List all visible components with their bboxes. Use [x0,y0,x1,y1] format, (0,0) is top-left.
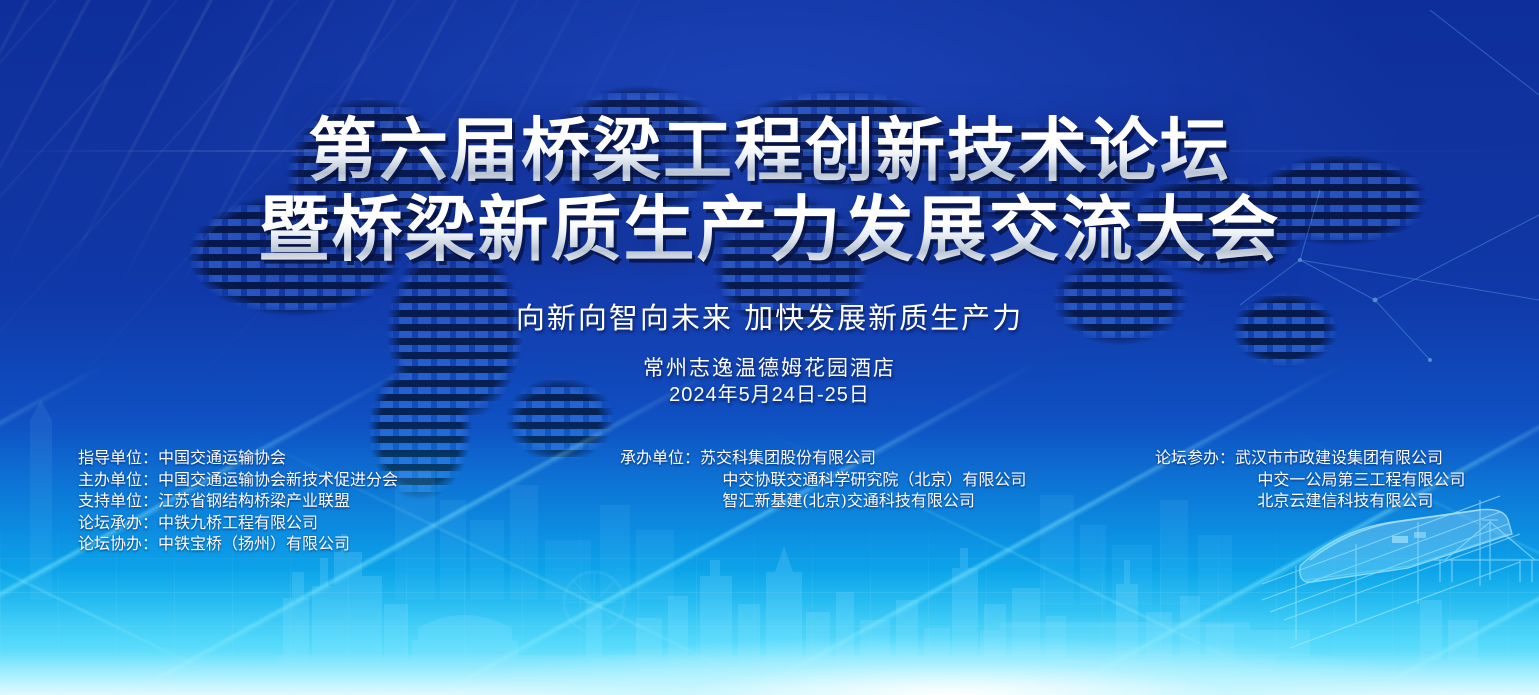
organizer-value: 北京云建信科技有限公司 [1257,491,1433,510]
organizer-value: 武汉市市政建设集团有限公司 [1235,448,1443,467]
organizer-row: 论坛协办：中铁宝桥（扬州）有限公司 [78,533,398,555]
organizer-value: 中交一公局第三工程有限公司 [1257,470,1465,489]
organizer-value: 苏交科集团股份有限公司 [700,448,876,467]
organizer-row: 中交一公局第三工程有限公司 [1155,469,1465,491]
organizer-label: 承办单位： [620,448,700,467]
organizer-value: 中铁宝桥（扬州）有限公司 [158,534,350,553]
organizer-row: 支持单位：江苏省钢结构桥梁产业联盟 [78,490,398,512]
organizer-row: 指导单位：中国交通运输协会 [78,447,398,469]
organizer-row: 论坛参办：武汉市市政建设集团有限公司 [1155,447,1465,469]
organizers-right-column: 论坛参办：武汉市市政建设集团有限公司 中交一公局第三工程有限公司 北京云建信科技… [1155,447,1465,512]
title-line-1: 第六届桥梁工程创新技术论坛 [0,112,1539,190]
dates-text: 2024年5月24日-25日 [0,378,1539,407]
title-line-2: 暨桥梁新质生产力发展交流大会 [0,190,1539,268]
organizer-row: 中交协联交通科学研究院（北京）有限公司 [620,469,1026,491]
conference-banner: 第六届桥梁工程创新技术论坛 暨桥梁新质生产力发展交流大会 向新向智向未来 加快发… [0,0,1539,695]
organizer-row: 承办单位：苏交科集团股份有限公司 [620,447,1026,469]
organizers-left-column: 指导单位：中国交通运输协会 主办单位：中国交通运输协会新技术促进分会 支持单位：… [78,447,398,555]
organizer-value: 中铁九桥工程有限公司 [158,513,318,532]
organizer-row: 北京云建信科技有限公司 [1155,490,1465,512]
organizer-row: 智汇新基建(北京)交通科技有限公司 [620,490,1026,512]
organizer-label: 支持单位： [78,491,158,510]
organizer-label: 论坛参办： [1155,448,1235,467]
organizers-middle-column: 承办单位：苏交科集团股份有限公司 中交协联交通科学研究院（北京）有限公司 智汇新… [620,447,1026,512]
banner-subtitle: 向新向智向未来 加快发展新质生产力 [0,295,1539,337]
organizer-row: 主办单位：中国交通运输协会新技术促进分会 [78,469,398,491]
organizer-value: 中交协联交通科学研究院（北京）有限公司 [722,470,1026,489]
organizer-value: 中国交通运输协会 [158,448,286,467]
organizer-label: 论坛协办： [78,534,158,553]
organizer-value: 智汇新基建(北京)交通科技有限公司 [722,491,975,510]
banner-title: 第六届桥梁工程创新技术论坛 暨桥梁新质生产力发展交流大会 [0,112,1539,268]
organizer-label: 主办单位： [78,470,158,489]
organizer-label: 指导单位： [78,448,158,467]
organizer-value: 中国交通运输协会新技术促进分会 [158,470,398,489]
organizer-label: 论坛承办： [78,513,158,532]
organizer-value: 江苏省钢结构桥梁产业联盟 [158,491,350,510]
organizer-row: 论坛承办：中铁九桥工程有限公司 [78,512,398,534]
